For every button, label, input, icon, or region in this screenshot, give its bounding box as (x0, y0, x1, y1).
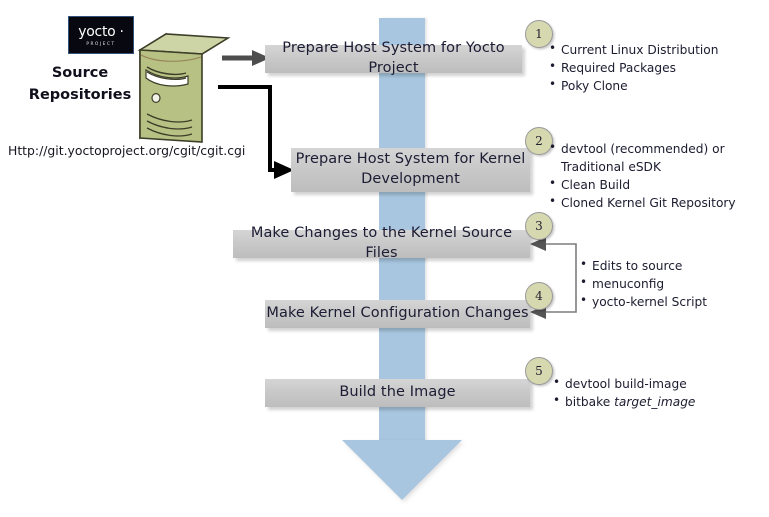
source-repositories-label-line1: Source (20, 63, 140, 85)
process-box-step4-label: Make Kernel Configuration Changes (266, 304, 528, 324)
list-item: yocto-kernel Script (580, 293, 760, 311)
logo-subtext: PROJECT (86, 41, 115, 46)
list-item: Cloned Kernel Git Repository (549, 194, 767, 212)
bitbake-target-argument: target_image (614, 395, 695, 409)
process-box-step2[interactable]: Prepare Host System for Kernel Developme… (291, 148, 530, 192)
list-item: Clean Build (549, 176, 767, 194)
process-box-step2-label: Prepare Host System for Kernel Developme… (291, 150, 530, 189)
bullet-list-step5: devtool build-image bitbake target_image (553, 375, 753, 411)
logo-wordmark: yocto · (78, 25, 123, 39)
list-item: Edits to source (580, 257, 760, 275)
diagram-canvas: yocto · PROJECT Source Repositories Http… (0, 0, 769, 517)
process-box-step1[interactable]: Prepare Host System for Yocto Project (265, 45, 522, 73)
list-item: devtool (recommended) or Traditional eSD… (549, 140, 767, 176)
list-item: Current Linux Distribution (549, 41, 764, 59)
source-repositories-label: Source Repositories (20, 63, 140, 107)
connector-source-to-step2 (218, 82, 298, 182)
step-number-badge-3: 3 (525, 212, 553, 240)
list-item: Required Packages (549, 59, 764, 77)
list-item: bitbake target_image (553, 393, 753, 411)
process-box-step5-label: Build the Image (339, 383, 455, 403)
source-repositories-label-line2: Repositories (20, 85, 140, 107)
list-item: Poky Clone (549, 77, 764, 95)
process-box-step3-label: Make Changes to the Kernel Source Files (233, 224, 530, 263)
yocto-project-logo: yocto · PROJECT (68, 16, 134, 54)
list-item: devtool build-image (553, 375, 753, 393)
step-number-badge-5: 5 (525, 357, 553, 385)
flow-arrow-head-icon (342, 440, 462, 500)
bitbake-command-prefix: bitbake (565, 395, 614, 409)
process-box-step1-label: Prepare Host System for Yocto Project (265, 39, 522, 78)
step-number-badge-4: 4 (525, 282, 553, 310)
process-box-step3[interactable]: Make Changes to the Kernel Source Files (233, 230, 530, 258)
process-box-step4[interactable]: Make Kernel Configuration Changes (265, 300, 530, 328)
list-item: menuconfig (580, 275, 760, 293)
process-box-step5[interactable]: Build the Image (265, 379, 530, 407)
bullet-list-step2: devtool (recommended) or Traditional eSD… (549, 140, 767, 212)
bullet-list-step1: Current Linux Distribution Required Pack… (549, 41, 764, 95)
bullet-list-steps3-4: Edits to source menuconfig yocto-kernel … (580, 257, 760, 311)
